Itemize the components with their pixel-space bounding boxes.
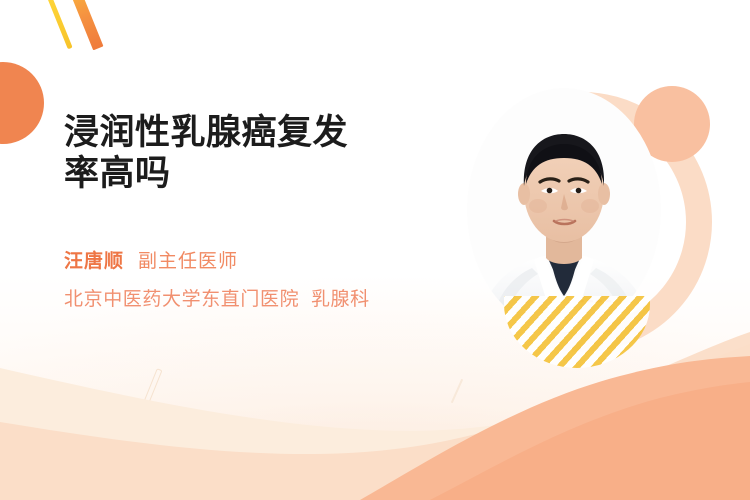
bottom-wave-decoration [0,310,750,500]
doctor-rank: 副主任医师 [138,246,238,273]
page-title: 浸润性乳腺癌复发 率高吗 [64,112,434,194]
headline-block: 浸润性乳腺癌复发 率高吗 [64,112,434,194]
doctor-video-thumbnail-card: 浸润性乳腺癌复发 率高吗 汪唐顺 副主任医师 北京中医药大学东直门医院 乳腺科 [0,0,750,500]
doctor-credentials: 汪唐顺 副主任医师 北京中医药大学东直门医院 乳腺科 [64,246,484,311]
doctor-name: 汪唐顺 [64,246,124,273]
doctor-affiliation: 北京中医药大学东直门医院 乳腺科 [64,284,484,311]
doctor-name-row: 汪唐顺 副主任医师 [64,246,484,273]
